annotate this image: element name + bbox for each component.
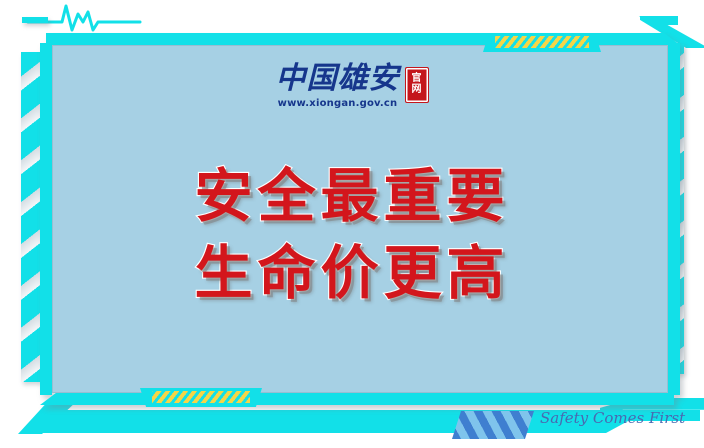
xiongan-logo: 中国雄安 www.xiongan.gov.cn 官 网: [0, 63, 704, 109]
seal-char-bottom: 网: [412, 85, 422, 96]
parallelogram-stripes-icon: [452, 411, 534, 439]
slogan-line-2: 生命价更高: [0, 235, 704, 312]
frame-border-bottom: [40, 393, 674, 405]
outer-bar-top: [118, 16, 678, 25]
hazard-stripe-tab-bottom-icon: [140, 388, 262, 407]
logo-name-cn: 中国雄安: [276, 63, 400, 95]
slogan-block: 安全最重要 生命价更高: [0, 158, 704, 312]
tagline: Safety Comes First: [540, 409, 685, 427]
logo-text-block: 中国雄安 www.xiongan.gov.cn: [276, 63, 400, 109]
logo-url: www.xiongan.gov.cn: [278, 98, 398, 109]
parallelogram-stripes-stub: [428, 418, 454, 427]
hazard-stripe-fill: [152, 391, 250, 403]
slogan-line-1: 安全最重要: [0, 158, 704, 235]
hazard-stripe-tab-top-icon: [483, 33, 601, 52]
outer-bar-top-stub: [22, 17, 48, 23]
safety-poster: 中国雄安 www.xiongan.gov.cn 官 网 安全最重要 生命价更高 …: [0, 0, 704, 448]
official-website-seal-icon: 官 网: [405, 67, 429, 103]
hazard-stripe-fill: [495, 36, 589, 48]
